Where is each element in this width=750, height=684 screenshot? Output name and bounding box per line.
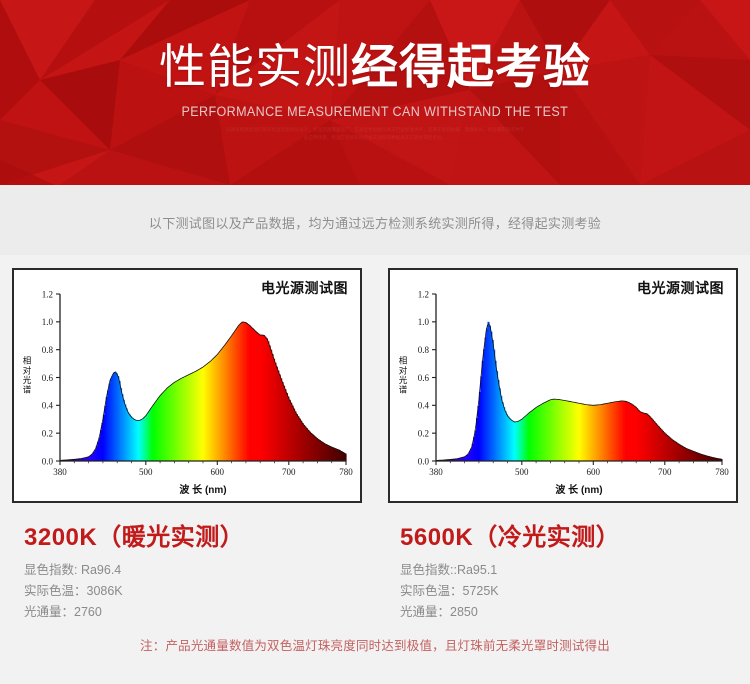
page-root: 性能实测经得起考验 PERFORMANCE MEASUREMENT CAN WI… [0,0,750,684]
chart-canvas-warm: 0.00.20.40.60.81.01.2380500600700780波 长 … [14,270,360,501]
svg-text:0.8: 0.8 [42,345,54,355]
svg-text:1.0: 1.0 [42,317,54,327]
stats-warm: 3200K（暖光实测） 显色指数: Ra96.4 实际色温：3086K 光通量：… [12,517,362,623]
chart-canvas-cool: 0.00.20.40.60.81.01.2380500600700780波 长 … [390,270,736,501]
svg-text:600: 600 [211,467,225,477]
svg-text:相: 相 [23,356,32,366]
stats-cri-cool: 显色指数::Ra95.1 [400,560,738,581]
stats-cri-warm: 显色指数: Ra96.4 [24,560,362,581]
footer-note: 注：产品光通量数值为双色温灯珠亮度同时达到极值，且灯珠前无柔光罩时测试得出 [12,635,738,654]
stats-row: 3200K（暖光实测） 显色指数: Ra96.4 实际色温：3086K 光通量：… [12,517,738,623]
svg-text:0.4: 0.4 [418,401,430,411]
svg-text:0.6: 0.6 [42,373,54,383]
svg-text:1.2: 1.2 [42,289,53,299]
stats-cct-warm: 实际色温：3086K [24,581,362,602]
hero-title-thin: 性能实测 [159,40,351,93]
svg-text:500: 500 [515,467,529,477]
svg-text:谱: 谱 [399,385,408,395]
svg-text:相: 相 [399,356,408,366]
svg-text:对: 对 [399,365,408,375]
charts-row: 电光源测试图 0.00.20.40.60.81.01.2380500600700… [12,268,738,503]
svg-text:1.2: 1.2 [418,289,429,299]
stats-heading-warm: 3200K（暖光实测） [24,517,362,552]
svg-text:波 长 (nm): 波 长 (nm) [555,483,602,496]
svg-text:600: 600 [587,467,601,477]
svg-text:380: 380 [53,467,67,477]
svg-text:380: 380 [429,467,443,477]
svg-text:700: 700 [282,467,296,477]
svg-text:500: 500 [139,467,153,477]
stats-heading-cool: 5600K（冷光实测） [400,517,738,552]
content-card: 电光源测试图 0.00.20.40.60.81.01.2380500600700… [0,255,750,684]
stats-lumen-cool: 光通量：2850 [400,602,738,623]
svg-text:0.8: 0.8 [418,345,430,355]
hero-subtitle: PERFORMANCE MEASUREMENT CAN WITHSTAND TH… [182,104,569,119]
hero-title-bold: 经得起考验 [351,40,591,93]
svg-text:1.0: 1.0 [418,317,430,327]
hero-title: 性能实测经得起考验 [159,43,591,90]
stats-cct-cool: 实际色温：5725K [400,581,738,602]
svg-text:700: 700 [658,467,672,477]
svg-text:0.0: 0.0 [418,456,430,466]
hero-content: 性能实测经得起考验 PERFORMANCE MEASUREMENT CAN WI… [0,0,750,185]
svg-text:0.0: 0.0 [42,456,54,466]
spectrum-chart-warm: 电光源测试图 0.00.20.40.60.81.01.2380500600700… [12,268,362,503]
svg-text:0.2: 0.2 [418,429,429,439]
svg-text:0.4: 0.4 [42,401,54,411]
spectrum-chart-cool: 电光源测试图 0.00.20.40.60.81.01.2380500600700… [388,268,738,503]
svg-text:光: 光 [399,375,408,385]
description-text: 以下测试图以及产品数据，均为通过远方检测系统实测所得，经得起实测考验 [149,213,601,232]
hero-ghost-text: 光源采用高显指灯珠双色温无极调光设计，色温范围覆盖宽广，实测显色指数均高于行业标… [225,126,525,143]
svg-text:780: 780 [715,467,729,477]
svg-text:0.2: 0.2 [42,429,53,439]
card-inner: 电光源测试图 0.00.20.40.60.81.01.2380500600700… [12,255,738,684]
svg-text:波 长 (nm): 波 长 (nm) [179,483,226,496]
svg-text:对: 对 [23,365,32,375]
svg-text:780: 780 [339,467,353,477]
description-strip: 以下测试图以及产品数据，均为通过远方检测系统实测所得，经得起实测考验 [0,189,750,255]
svg-text:谱: 谱 [23,385,32,395]
svg-text:0.6: 0.6 [418,373,430,383]
svg-text:光: 光 [23,375,32,385]
hero-banner: 性能实测经得起考验 PERFORMANCE MEASUREMENT CAN WI… [0,0,750,185]
stats-lumen-warm: 光通量：2760 [24,602,362,623]
stats-cool: 5600K（冷光实测） 显色指数::Ra95.1 实际色温：5725K 光通量：… [388,517,738,623]
